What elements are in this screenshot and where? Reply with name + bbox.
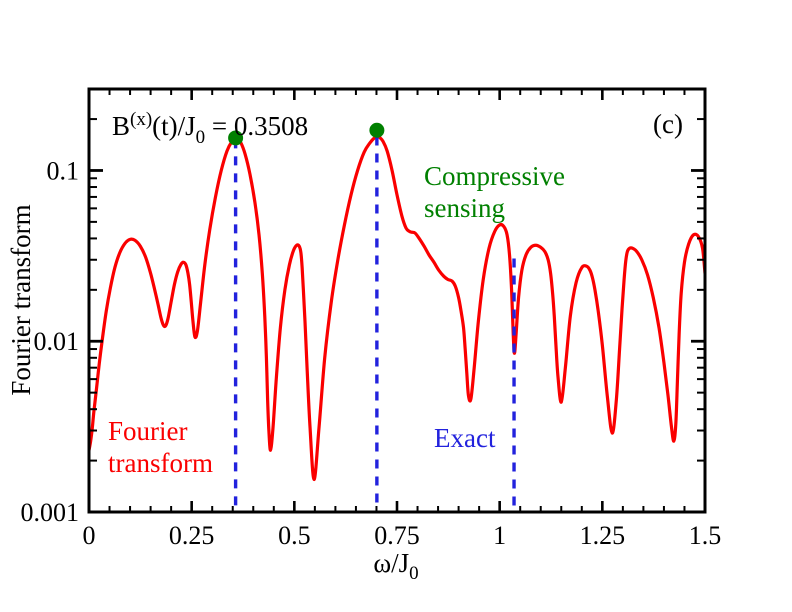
field-label-B: B <box>112 111 130 141</box>
x-tick-label-0: 0 <box>83 521 96 550</box>
y-axis-label: Fourier transform <box>6 204 36 395</box>
compressive-annotation-line2: sensing <box>424 193 505 223</box>
fourier-annotation-line2: transform <box>108 448 213 478</box>
field-subscript-zero: 0 <box>196 127 206 148</box>
x-tick-label-5: 1.25 <box>580 521 626 550</box>
y-tick-label-2: 0.001 <box>21 498 80 527</box>
compressive-annotation-line1: Compressive <box>424 161 565 191</box>
panel-label: (c) <box>653 109 683 139</box>
figure-panel: 00.250.50.7511.251.50.10.010.001 Fourier… <box>0 0 792 612</box>
x-tick-label-1: 0.25 <box>169 521 215 550</box>
x-tick-label-6: 1.5 <box>689 521 722 550</box>
y-tick-label-1: 0.01 <box>34 327 80 356</box>
x-tick-label-3: 0.75 <box>374 521 420 550</box>
x-axis-label-sub: 0 <box>409 563 419 584</box>
y-tick-label-0: 0.1 <box>47 156 80 185</box>
exact-annotation: Exact <box>434 423 496 453</box>
fourier-transform-plot: 00.250.50.7511.251.50.10.010.001 Fourier… <box>0 0 792 612</box>
field-superscript-x: (x) <box>130 109 152 130</box>
field-mid-text: (t)/J <box>152 111 196 141</box>
x-tick-label-2: 0.5 <box>278 521 311 550</box>
x-tick-label-4: 1 <box>493 521 506 550</box>
compressive-sensing-peak-2 <box>369 123 384 138</box>
fourier-annotation-line1: Fourier <box>108 416 187 446</box>
x-axis-label-main: ω/J <box>373 548 409 578</box>
field-value: = 0.3508 <box>205 111 308 141</box>
